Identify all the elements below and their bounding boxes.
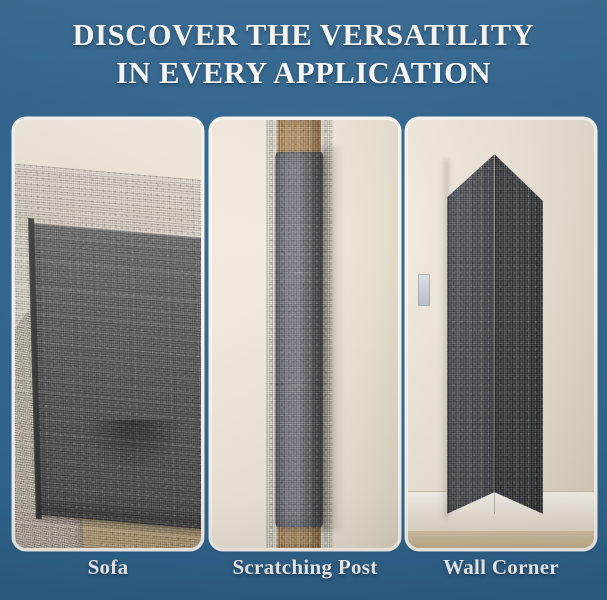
corner-guard-edge bbox=[494, 154, 496, 514]
panel-captions: Sofa Scratching Post Wall Corner bbox=[0, 552, 607, 592]
scratching-post-scene-image bbox=[212, 120, 398, 548]
corner-guard-left-face bbox=[447, 154, 494, 514]
sofa-wall-background bbox=[15, 120, 201, 231]
headline-line-2: IN EVERY APPLICATION bbox=[0, 54, 607, 92]
sofa-scene-image bbox=[15, 120, 201, 548]
carpet-texture-overlay bbox=[266, 120, 332, 548]
corner-guard-right-face bbox=[494, 154, 542, 514]
caption-wall-corner: Wall Corner bbox=[408, 552, 594, 582]
panel-scratching-post bbox=[212, 120, 398, 548]
headline-line-1: DISCOVER THE VERSATILITY bbox=[0, 16, 607, 54]
caption-sofa: Sofa bbox=[15, 552, 201, 582]
wrap-seam bbox=[276, 384, 323, 386]
promo-poster: DISCOVER THE VERSATILITY IN EVERY APPLIC… bbox=[0, 0, 607, 600]
sofa-mat-shadow bbox=[89, 420, 201, 488]
caption-scratching-post: Scratching Post bbox=[212, 552, 398, 582]
corner-floor bbox=[408, 531, 594, 548]
panel-wall-corner bbox=[408, 120, 594, 548]
wrap-seam bbox=[276, 272, 323, 274]
post-cast-shadow bbox=[322, 146, 344, 531]
light-switch-plate bbox=[418, 274, 429, 306]
post-carpet-wrap bbox=[276, 152, 323, 527]
wall-corner-scene-image bbox=[408, 120, 594, 548]
panel-sofa bbox=[15, 120, 201, 548]
page-title: DISCOVER THE VERSATILITY IN EVERY APPLIC… bbox=[0, 16, 607, 92]
